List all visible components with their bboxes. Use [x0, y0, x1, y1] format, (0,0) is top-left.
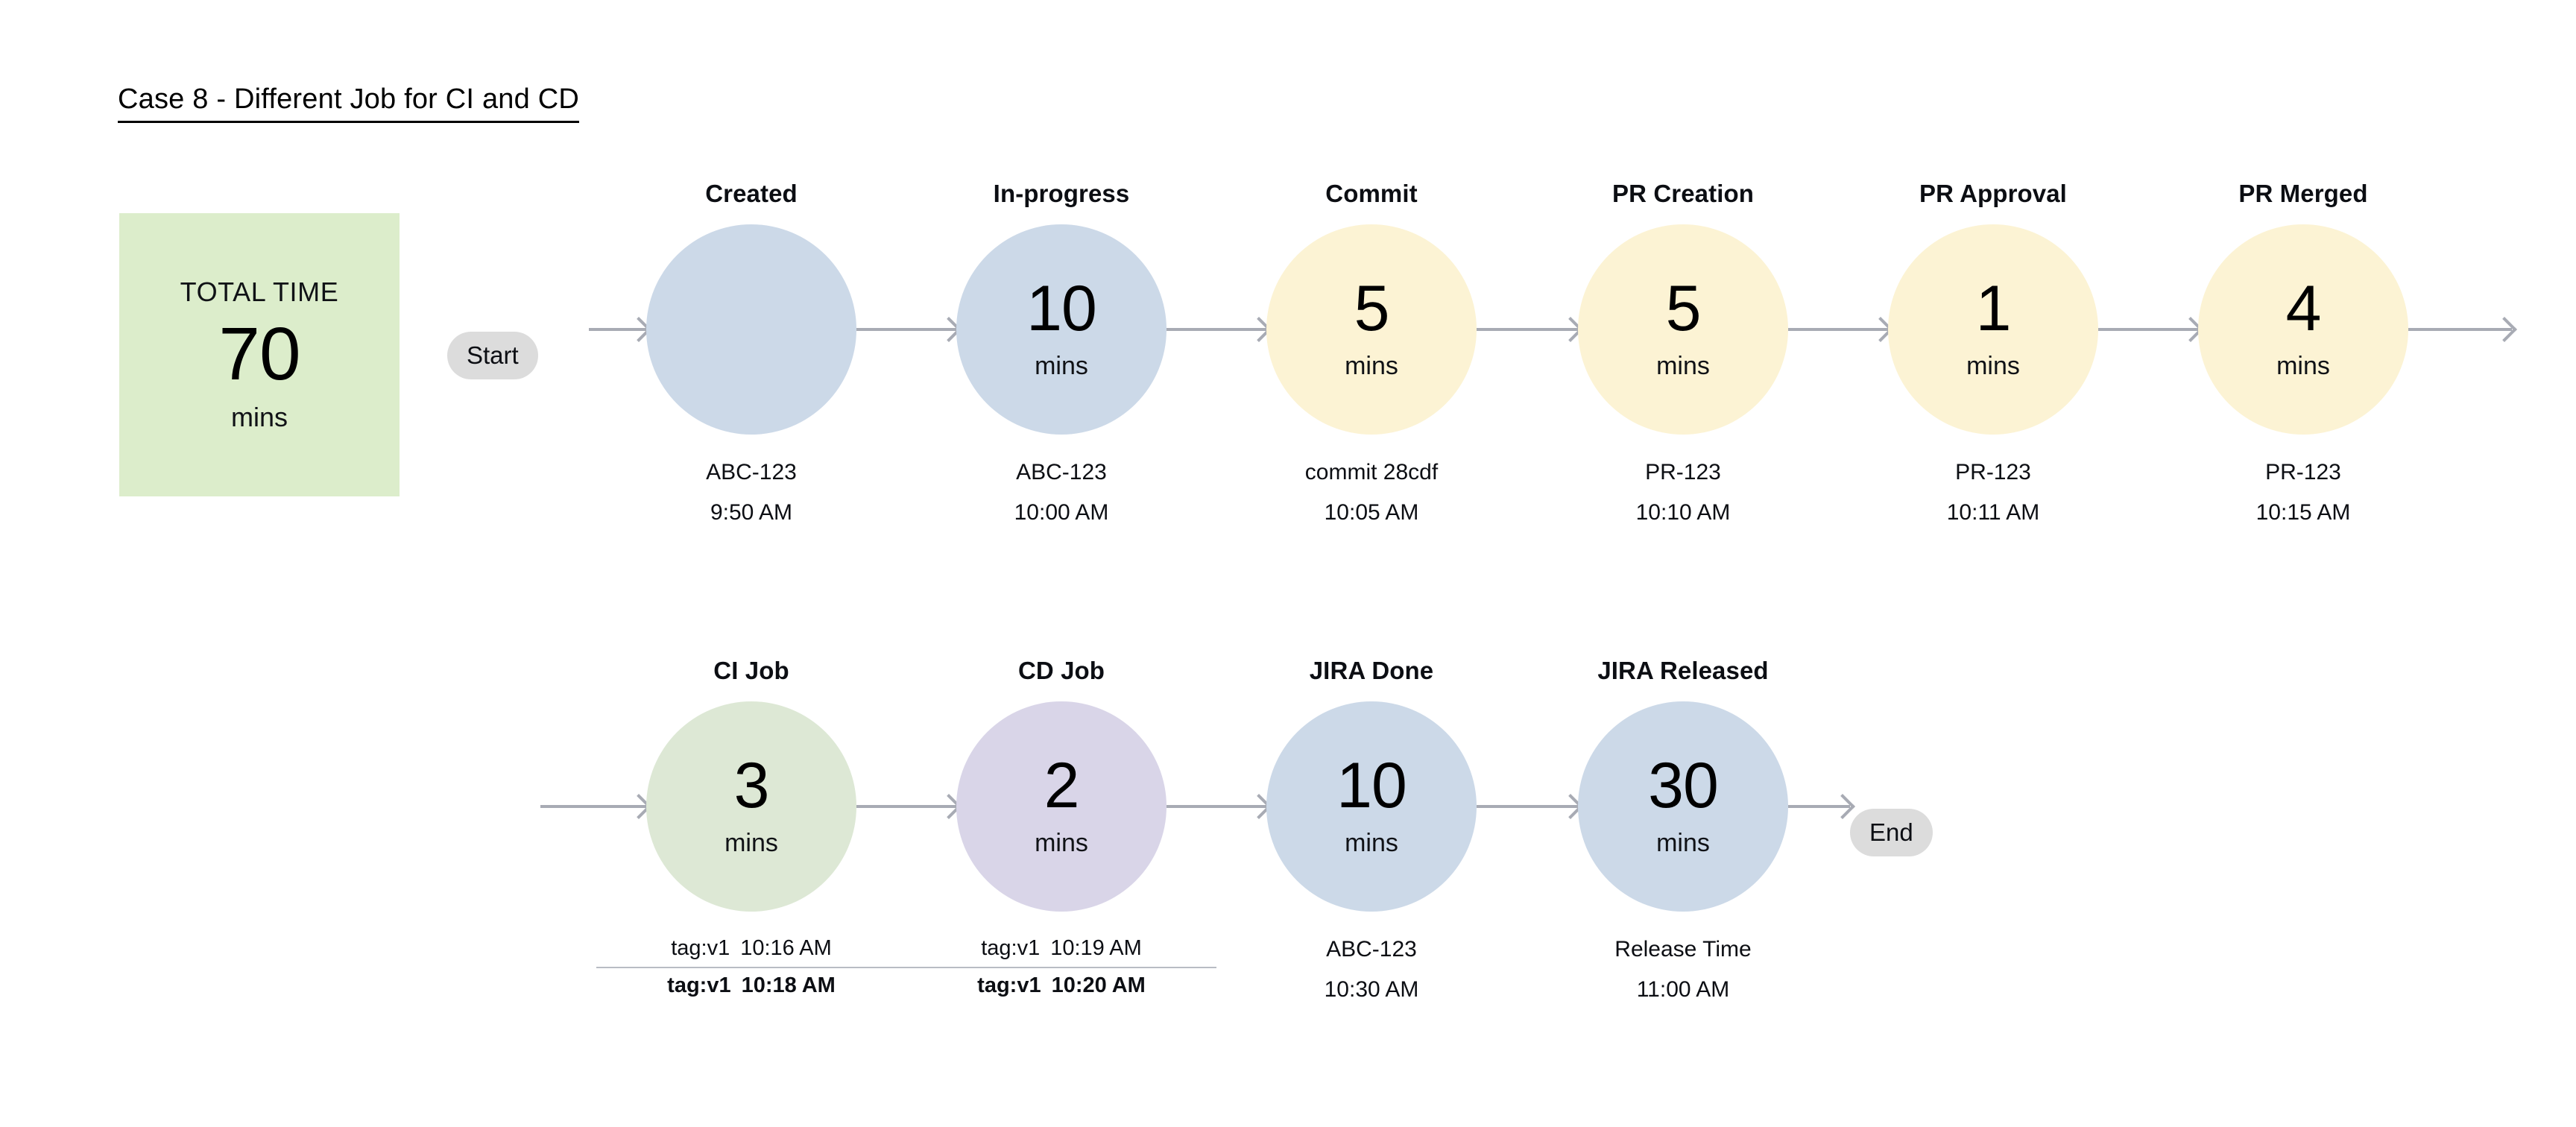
flow-node-jira-done[interactable]: JIRA Done10minsABC-12310:30 AM [1265, 656, 1478, 1010]
start-pill[interactable]: Start [447, 332, 538, 379]
connector-row1-4 [2098, 328, 2198, 331]
node-title: Created [705, 179, 798, 209]
connector-row2-head [540, 805, 646, 808]
node-duration-unit: mins [1035, 352, 1088, 381]
node-duration-value: 1 [1976, 278, 2011, 340]
node-bubble[interactable]: 1mins [1888, 224, 2098, 435]
node-caption-bottom-tag: tag:v1 [667, 973, 730, 997]
connector-row1-2 [1477, 328, 1578, 331]
total-time-unit: mins [231, 402, 288, 433]
node-duration-unit: mins [1966, 352, 2020, 381]
connector-row2-1 [1167, 805, 1266, 808]
node-caption-id: commit 28cdf [1305, 452, 1438, 493]
node-caption-top-tag: tag:v1 [981, 936, 1040, 960]
connector-row1-1 [1167, 328, 1266, 331]
node-caption-id: Release Time [1614, 929, 1751, 970]
node-bubble[interactable]: 4mins [2198, 224, 2408, 435]
node-caption-id: PR-123 [1636, 452, 1731, 493]
node-duration-unit: mins [1345, 829, 1398, 858]
node-duration-value: 5 [1666, 278, 1701, 340]
node-duration-value: 10 [1026, 278, 1096, 340]
node-bubble[interactable]: 5mins [1578, 224, 1788, 435]
node-duration-value: 4 [2286, 278, 2321, 340]
node-title: CI Job [713, 656, 789, 686]
node-bubble[interactable]: 3mins [646, 701, 856, 912]
node-duration-unit: mins [1656, 352, 1710, 381]
flow-node-jira-released[interactable]: JIRA Released30minsRelease Time11:00 AM [1576, 656, 1790, 1010]
node-caption-id: ABC-123 [706, 452, 797, 493]
node-caption-time: 11:00 AM [1614, 970, 1751, 1010]
node-bubble[interactable]: 5mins [1266, 224, 1477, 435]
node-duration-value: 30 [1648, 755, 1718, 817]
flow-node-ci-job[interactable]: CI Job3minstag:v110:16 AMtag:v110:18 AM [645, 656, 858, 1004]
flow-node-pr-merged[interactable]: PR Merged4minsPR-12310:15 AM [2197, 179, 2410, 533]
node-title: PR Creation [1612, 179, 1754, 209]
node-caption-top: tag:v110:19 AM [977, 929, 1146, 967]
connector-start-to-created [589, 328, 646, 331]
node-duration-unit: mins [1035, 829, 1088, 858]
node-caption-top: tag:v110:16 AM [667, 929, 836, 967]
node-caption-bottom: tag:v110:20 AM [977, 967, 1146, 1004]
page-title: Case 8 - Different Job for CI and CD [118, 83, 579, 123]
node-caption: PR-12310:15 AM [2256, 452, 2351, 533]
node-caption: ABC-12310:30 AM [1325, 929, 1419, 1010]
total-time-label: TOTAL TIME [180, 277, 339, 308]
total-time-value: 70 [218, 315, 300, 393]
node-title: Commit [1325, 179, 1417, 209]
ci-cd-caption-divider [596, 967, 1216, 968]
connector-row2-2 [1477, 805, 1578, 808]
node-caption-top-tag: tag:v1 [671, 936, 730, 960]
node-title: CD Job [1018, 656, 1105, 686]
flow-node-pr-approval[interactable]: PR Approval1minsPR-12310:11 AM [1887, 179, 2100, 533]
node-caption-time: 10:11 AM [1947, 493, 2040, 533]
node-caption-id: PR-123 [2256, 452, 2351, 493]
node-title: JIRA Released [1597, 656, 1768, 686]
node-duration-unit: mins [1656, 829, 1710, 858]
connector-row1-tail [2408, 328, 2512, 331]
node-caption: Release Time11:00 AM [1614, 929, 1751, 1010]
node-caption-bottom-time: 10:20 AM [1052, 973, 1146, 997]
node-duration-unit: mins [1345, 352, 1398, 381]
node-caption-bottom-time: 10:18 AM [742, 973, 836, 997]
node-title: PR Merged [2238, 179, 2367, 209]
node-title: JIRA Done [1310, 656, 1434, 686]
node-caption: PR-12310:11 AM [1947, 452, 2040, 533]
node-bubble[interactable]: 10mins [1266, 701, 1477, 912]
node-duration-value: 5 [1354, 278, 1389, 340]
node-caption-time: 10:05 AM [1305, 493, 1438, 533]
node-bubble[interactable]: 30mins [1578, 701, 1788, 912]
total-time-card: TOTAL TIME 70 mins [119, 213, 400, 496]
node-caption: commit 28cdf10:05 AM [1305, 452, 1438, 533]
flow-node-created[interactable]: CreatedABC-1239:50 AM [645, 179, 858, 533]
node-caption-time: 10:10 AM [1636, 493, 1731, 533]
node-caption-id: ABC-123 [1014, 452, 1109, 493]
end-pill[interactable]: End [1850, 809, 1933, 856]
node-duration-unit: mins [2276, 352, 2330, 381]
node-caption-id: ABC-123 [1325, 929, 1419, 970]
node-duration-value: 3 [734, 755, 769, 817]
flow-node-commit[interactable]: Commit5minscommit 28cdf10:05 AM [1265, 179, 1478, 533]
connector-row2-0 [856, 805, 956, 808]
connector-released-to-end [1788, 805, 1850, 808]
node-caption-bottom: tag:v110:18 AM [667, 967, 836, 1004]
node-caption-time: 9:50 AM [706, 493, 797, 533]
node-duration-value: 2 [1044, 755, 1079, 817]
flow-node-pr-creation[interactable]: PR Creation5minsPR-12310:10 AM [1576, 179, 1790, 533]
node-caption: ABC-1239:50 AM [706, 452, 797, 533]
node-title: PR Approval [1919, 179, 2067, 209]
node-caption: ABC-12310:00 AM [1014, 452, 1109, 533]
node-caption-top-time: 10:16 AM [740, 936, 832, 960]
connector-row1-3 [1788, 328, 1888, 331]
node-title: In-progress [994, 179, 1130, 209]
flow-node-in-progress[interactable]: In-progress10minsABC-12310:00 AM [955, 179, 1168, 533]
node-bubble[interactable]: 10mins [956, 224, 1167, 435]
flow-node-cd-job[interactable]: CD Job2minstag:v110:19 AMtag:v110:20 AM [955, 656, 1168, 1004]
node-caption-time: 10:30 AM [1325, 970, 1419, 1010]
connector-row1-0 [856, 328, 956, 331]
node-caption-bottom-tag: tag:v1 [977, 973, 1041, 997]
node-duration-value: 10 [1336, 755, 1407, 817]
node-caption-id: PR-123 [1947, 452, 2040, 493]
node-caption-time: 10:15 AM [2256, 493, 2351, 533]
node-duration-unit: mins [724, 829, 778, 858]
node-bubble[interactable]: 2mins [956, 701, 1167, 912]
node-bubble[interactable] [646, 224, 856, 435]
node-caption-time: 10:00 AM [1014, 493, 1109, 533]
node-caption: PR-12310:10 AM [1636, 452, 1731, 533]
node-caption-top-time: 10:19 AM [1050, 936, 1142, 960]
